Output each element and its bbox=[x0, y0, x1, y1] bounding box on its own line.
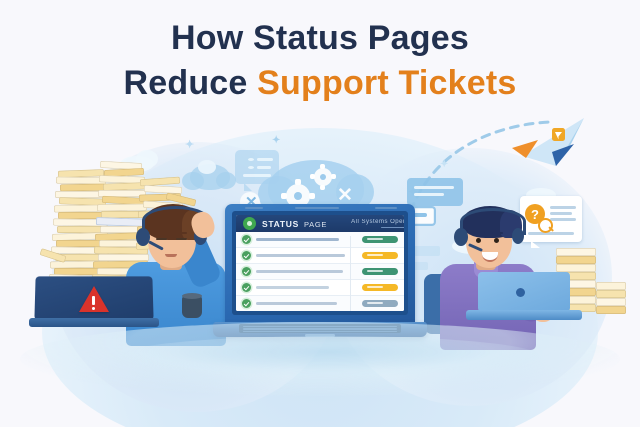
gear-tooth bbox=[310, 174, 315, 179]
status-badge bbox=[362, 252, 398, 259]
green-check-icon bbox=[242, 251, 251, 260]
coffee-mug bbox=[182, 296, 202, 318]
bubble-dot bbox=[248, 158, 254, 161]
status-row-text bbox=[256, 286, 357, 289]
status-row[interactable] bbox=[236, 232, 404, 248]
laptop-base bbox=[29, 318, 159, 327]
cloud-bubble-icon bbox=[182, 172, 204, 190]
gear-tooth bbox=[331, 174, 336, 179]
status-row[interactable] bbox=[236, 280, 404, 296]
left-laptop bbox=[35, 276, 153, 328]
status-page-title-suffix: PAGE bbox=[304, 220, 327, 229]
status-badge bbox=[362, 300, 398, 307]
gear-tooth bbox=[295, 179, 301, 185]
column-divider bbox=[350, 236, 351, 311]
sparkle-icon: ✦ bbox=[440, 160, 448, 170]
gear-tooth bbox=[281, 193, 287, 199]
status-row[interactable] bbox=[236, 248, 404, 264]
status-page-subtitle-block: All Systems Operational bbox=[351, 219, 404, 229]
bubble-dot bbox=[248, 166, 254, 169]
title-line-2: Reduce Support Tickets bbox=[0, 63, 640, 103]
sparkle-icon: ✦ bbox=[185, 140, 194, 151]
green-check-icon bbox=[242, 299, 251, 308]
status-row-text bbox=[256, 302, 357, 305]
status-row[interactable] bbox=[236, 296, 404, 311]
laptop-lid: STATUS PAGE All Systems Operational bbox=[225, 204, 415, 326]
status-row-name bbox=[256, 254, 345, 257]
page-title: How Status Pages Reduce Support Tickets bbox=[0, 18, 640, 103]
sparkle-icon: ✦ bbox=[272, 136, 280, 146]
agent-eye bbox=[494, 238, 499, 243]
laptop-keyboard[interactable] bbox=[239, 324, 401, 333]
laptop-base bbox=[466, 310, 582, 320]
status-row-text bbox=[256, 254, 357, 257]
cloud-highlight bbox=[198, 160, 216, 174]
green-check-circle-icon bbox=[243, 217, 256, 230]
right-laptop bbox=[470, 272, 578, 322]
status-page-subtitle: All Systems Operational bbox=[351, 219, 404, 225]
headset-earcup-icon bbox=[454, 228, 468, 246]
status-page-title-main: STATUS bbox=[262, 219, 299, 229]
bubble-line bbox=[257, 166, 271, 169]
green-check-icon bbox=[242, 267, 251, 276]
status-row-name bbox=[256, 238, 339, 241]
bubble-line bbox=[414, 193, 444, 196]
bezel-mark bbox=[245, 207, 263, 209]
gear-icon bbox=[314, 168, 332, 186]
status-page-rows bbox=[236, 232, 404, 311]
bezel-mark bbox=[295, 207, 339, 209]
status-badge bbox=[362, 236, 398, 243]
laptop-base bbox=[213, 322, 427, 337]
laptop-trackpad[interactable] bbox=[305, 334, 335, 337]
bubble-line bbox=[243, 174, 271, 177]
header-underline bbox=[381, 227, 404, 229]
warning-exclamation bbox=[92, 296, 95, 305]
headset-earcup-icon bbox=[512, 228, 524, 244]
status-badge bbox=[362, 268, 398, 275]
gear-tooth bbox=[309, 193, 315, 199]
gear-tooth bbox=[320, 164, 325, 169]
status-row-text bbox=[256, 270, 357, 273]
laptop-logo bbox=[516, 288, 525, 297]
gear-tooth bbox=[320, 185, 325, 190]
status-row[interactable] bbox=[236, 264, 404, 280]
bubble-line bbox=[414, 186, 454, 189]
title-line-1: How Status Pages bbox=[0, 18, 640, 58]
green-check-icon bbox=[242, 283, 251, 292]
status-row-name bbox=[256, 270, 343, 273]
status-page-title: STATUS PAGE bbox=[262, 219, 327, 229]
title-line-2-accent: Support Tickets bbox=[257, 64, 516, 102]
status-badge bbox=[362, 284, 398, 291]
status-page-header: STATUS PAGE All Systems Operational bbox=[236, 215, 404, 232]
title-line-2-plain: Reduce bbox=[124, 64, 258, 102]
bezel-mark bbox=[375, 207, 397, 209]
agent-mouth bbox=[165, 254, 177, 257]
status-page-laptop: STATUS PAGE All Systems Operational bbox=[213, 204, 427, 344]
laptop-bezel: STATUS PAGE All Systems Operational bbox=[232, 211, 408, 315]
coffee-mug-top bbox=[182, 293, 202, 299]
bubble-line bbox=[257, 158, 273, 161]
x-mark-icon: ✕ bbox=[337, 186, 353, 205]
cloud-bubble-icon bbox=[216, 172, 236, 189]
status-page-screen[interactable]: STATUS PAGE All Systems Operational bbox=[236, 215, 404, 311]
status-row-name bbox=[256, 286, 329, 289]
illustration-canvas: ✕ ✕ ✦ ✦ ✦ ✦ bbox=[0, 0, 640, 427]
paper-plane-icon bbox=[512, 114, 600, 180]
status-row-name bbox=[256, 302, 337, 305]
agent-eye bbox=[476, 238, 481, 243]
green-check-icon bbox=[242, 235, 251, 244]
status-row-text bbox=[256, 238, 357, 241]
